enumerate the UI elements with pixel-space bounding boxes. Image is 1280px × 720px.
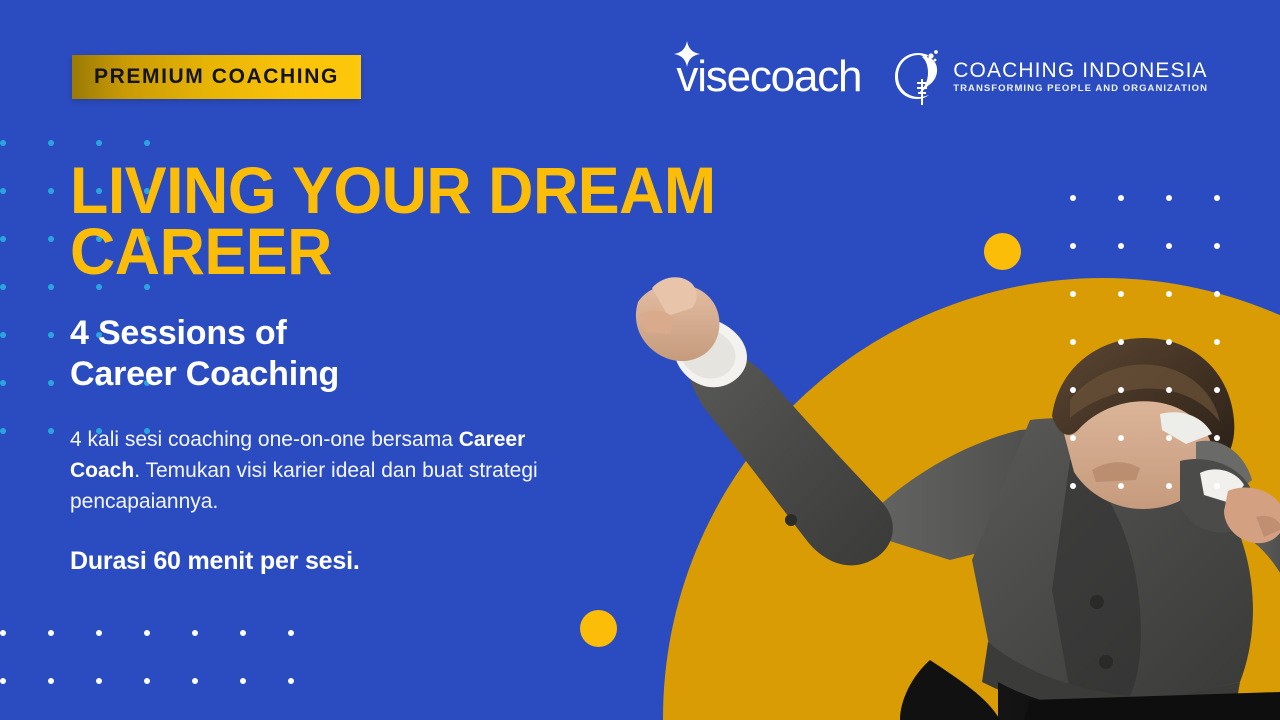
decorative-dot xyxy=(0,380,6,386)
premium-coaching-badge: PREMIUM COACHING xyxy=(72,55,361,99)
decorative-dot xyxy=(1118,195,1124,201)
decorative-dot xyxy=(96,140,102,146)
decorative-dot xyxy=(240,630,246,636)
decorative-dot xyxy=(0,284,6,290)
coaching-indonesia-name: COACHING INDONESIA xyxy=(953,60,1208,81)
decorative-dot xyxy=(48,630,54,636)
coaching-indonesia-mark-icon xyxy=(895,49,941,105)
dot-grid-bottom-left xyxy=(0,630,340,720)
decorative-dot xyxy=(48,284,54,290)
decorative-dot xyxy=(48,188,54,194)
duration-text: Durasi 60 menit per sesi. xyxy=(70,547,770,576)
headline-line-2: CAREER xyxy=(70,214,332,288)
subheading: 4 Sessions of Career Coaching xyxy=(70,313,770,396)
visecoach-wordmark: visecoach xyxy=(676,55,861,99)
decorative-dot xyxy=(288,630,294,636)
badge-label: PREMIUM COACHING xyxy=(94,65,339,89)
decorative-dot xyxy=(144,140,150,146)
description-part-2: . Temukan visi karier ideal dan buat str… xyxy=(70,459,538,513)
accent-circle-top xyxy=(984,233,1021,270)
subheading-line-1: 4 Sessions of xyxy=(70,314,287,352)
page-title: LIVING YOUR DREAM CAREER xyxy=(70,160,735,283)
decorative-dot xyxy=(0,140,6,146)
coaching-indonesia-tagline: TRANSFORMING PEOPLE AND ORGANIZATION xyxy=(953,84,1208,94)
accent-circle-bottom xyxy=(580,610,617,647)
copy-block: LIVING YOUR DREAM CAREER 4 Sessions of C… xyxy=(70,160,770,576)
decorative-dot xyxy=(0,236,6,242)
decorative-dot xyxy=(0,428,6,434)
decorative-dot xyxy=(1214,195,1220,201)
logo-group: visecoach COACHING INDONESIA xyxy=(676,44,1208,110)
visecoach-logo: visecoach xyxy=(676,55,861,99)
decorative-dot xyxy=(48,140,54,146)
decorative-dot xyxy=(1070,195,1076,201)
subheading-line-2: Career Coaching xyxy=(70,355,339,393)
decorative-dot xyxy=(0,678,6,684)
decorative-dot xyxy=(0,188,6,194)
description-text: 4 kali sesi coaching one-on-one bersama … xyxy=(70,424,570,517)
decorative-dot xyxy=(0,630,6,636)
decorative-dot xyxy=(48,332,54,338)
decorative-dot xyxy=(96,678,102,684)
decorative-dot xyxy=(48,380,54,386)
decorative-dot xyxy=(240,678,246,684)
decorative-dot xyxy=(144,630,150,636)
far-hand-photo xyxy=(1180,455,1280,565)
coaching-indonesia-logo: COACHING INDONESIA TRANSFORMING PEOPLE A… xyxy=(895,49,1208,105)
decorative-dot xyxy=(288,678,294,684)
decorative-dot xyxy=(1166,195,1172,201)
decorative-dot xyxy=(192,630,198,636)
description-part-1: 4 kali sesi coaching one-on-one bersama xyxy=(70,428,459,451)
decorative-dot xyxy=(48,678,54,684)
decorative-dot xyxy=(96,630,102,636)
decorative-dot xyxy=(192,678,198,684)
promo-banner: PREMIUM COACHING visecoach xyxy=(0,0,1280,720)
decorative-dot xyxy=(0,332,6,338)
decorative-dot xyxy=(144,678,150,684)
decorative-dot xyxy=(48,236,54,242)
decorative-dot xyxy=(48,428,54,434)
sparkle-icon xyxy=(674,41,700,67)
